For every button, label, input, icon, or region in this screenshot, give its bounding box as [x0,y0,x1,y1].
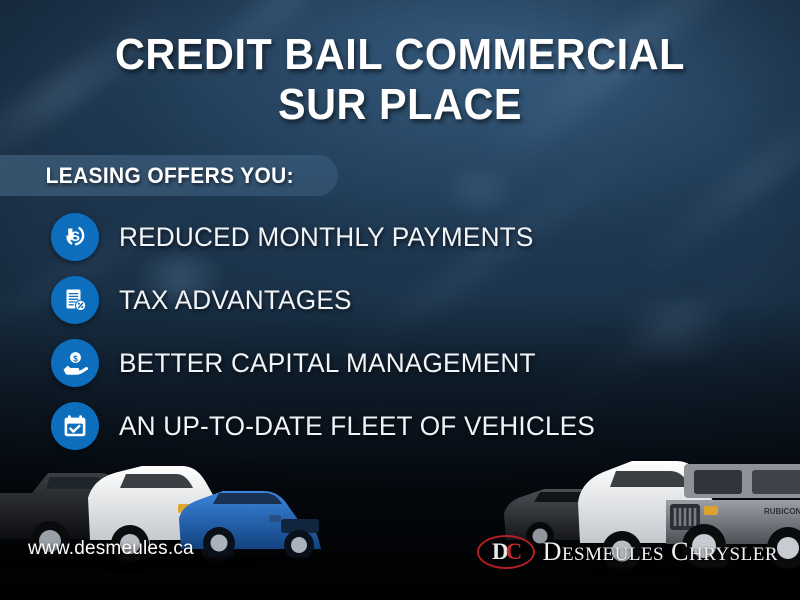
list-item: S REDUCED MONTHLY PAYMENTS [51,213,751,261]
website-url[interactable]: www.desmeules.ca [28,538,194,560]
subtitle-banner: LEASING OFFERS YOU: [0,155,338,196]
dc-monogram-icon: DC [477,535,535,569]
vehicle-lineup: RAM [0,430,800,600]
headline-line-2: SUR PLACE [24,80,776,130]
dealer-logo[interactable]: DC DESMEULES CHRYSLER [477,531,778,573]
subtitle-label: LEASING OFFERS YOU: [0,163,294,189]
benefit-label: BETTER CAPITAL MANAGEMENT [119,348,536,378]
dodge-challenger-blue [175,471,335,566]
logo-name-first: D [543,537,562,566]
logo-name-second-rest: HRYSLER [689,544,778,565]
benefits-list: S REDUCED MONTHLY PAYMENTS [51,213,751,465]
logo-letter-c: C [506,539,520,565]
page-title: CREDIT BAIL COMMERCIAL SUR PLACE [24,30,776,130]
svg-text:$: $ [73,354,78,364]
list-item: TAX ADVANTAGES [51,276,751,324]
logo-wordmark: DESMEULES CHRYSLER [543,537,778,567]
promotional-banner: CREDIT BAIL COMMERCIAL SUR PLACE LEASING… [0,0,800,600]
benefit-label: TAX ADVANTAGES [119,285,352,315]
hand-coin-icon: $ [51,339,99,387]
benefit-label: REDUCED MONTHLY PAYMENTS [119,222,534,252]
logo-name-first-rest: ESMEULES [562,544,664,565]
headline-line-1: CREDIT BAIL COMMERCIAL [24,30,776,80]
logo-name-second: C [671,537,689,566]
logo-letters: DC [477,535,535,569]
money-decrease-icon: S [51,213,99,261]
svg-text:RUBICON: RUBICON [764,507,800,516]
document-percent-icon [51,276,99,324]
logo-letter-d: D [492,539,506,565]
list-item: $ BETTER CAPITAL MANAGEMENT [51,339,751,387]
